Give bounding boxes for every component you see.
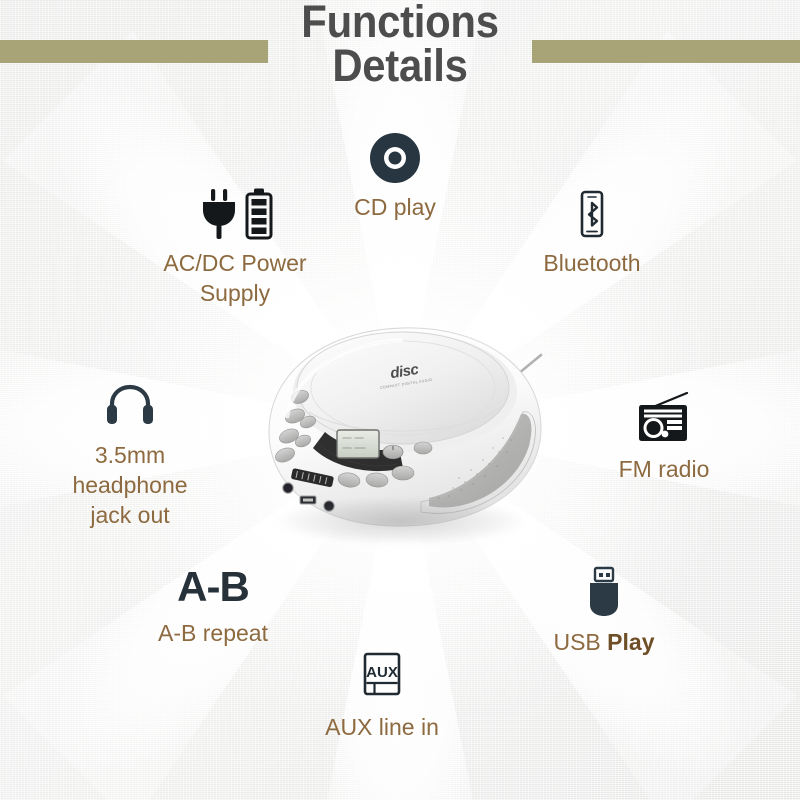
infographic-page: Functions Details (0, 0, 800, 800)
headphones-icon (25, 378, 235, 434)
feature-label: FM radio (559, 454, 769, 484)
usb-drive-icon (499, 565, 709, 621)
feature-label: USB Play (499, 627, 709, 657)
svg-text:AUX: AUX (366, 664, 398, 681)
usb-label-prefix: USB (553, 629, 607, 655)
feature-headphone-jack[interactable]: 3.5mm headphone jack out (25, 378, 235, 530)
plug-battery-icon (130, 186, 340, 242)
title-text: Functions Details (28, 0, 772, 90)
radio-icon (559, 392, 769, 448)
feature-ac-dc-power-supply[interactable]: AC/DC Power Supply (130, 186, 340, 308)
feature-usb-play[interactable]: USB Play (499, 565, 709, 657)
product-shadow (281, 498, 521, 544)
feature-label: Bluetooth (487, 248, 697, 278)
title-line-2: Details (28, 42, 772, 90)
feature-label: AC/DC Power Supply (130, 248, 340, 308)
bluetooth-phone-icon (487, 186, 697, 242)
feature-aux-line-in[interactable]: AUX AUX line in (277, 650, 487, 742)
feature-label: A-B repeat (108, 618, 318, 648)
feature-fm-radio[interactable]: FM radio (559, 392, 769, 484)
feature-label: AUX line in (277, 712, 487, 742)
feature-label: 3.5mm headphone jack out (50, 440, 210, 530)
aux-port-icon: AUX (277, 650, 487, 706)
page-title: Functions Details (0, 0, 800, 100)
compact-disc-icon (290, 130, 500, 186)
feature-ab-repeat[interactable]: A-B A-B repeat (108, 562, 318, 648)
ab-text-icon: A-B (108, 562, 318, 618)
product-image-cd-boombox: disc COMPACT DIGITAL AUDIO (253, 300, 553, 555)
feature-bluetooth[interactable]: Bluetooth (487, 186, 697, 278)
usb-label-strong: Play (607, 629, 654, 655)
